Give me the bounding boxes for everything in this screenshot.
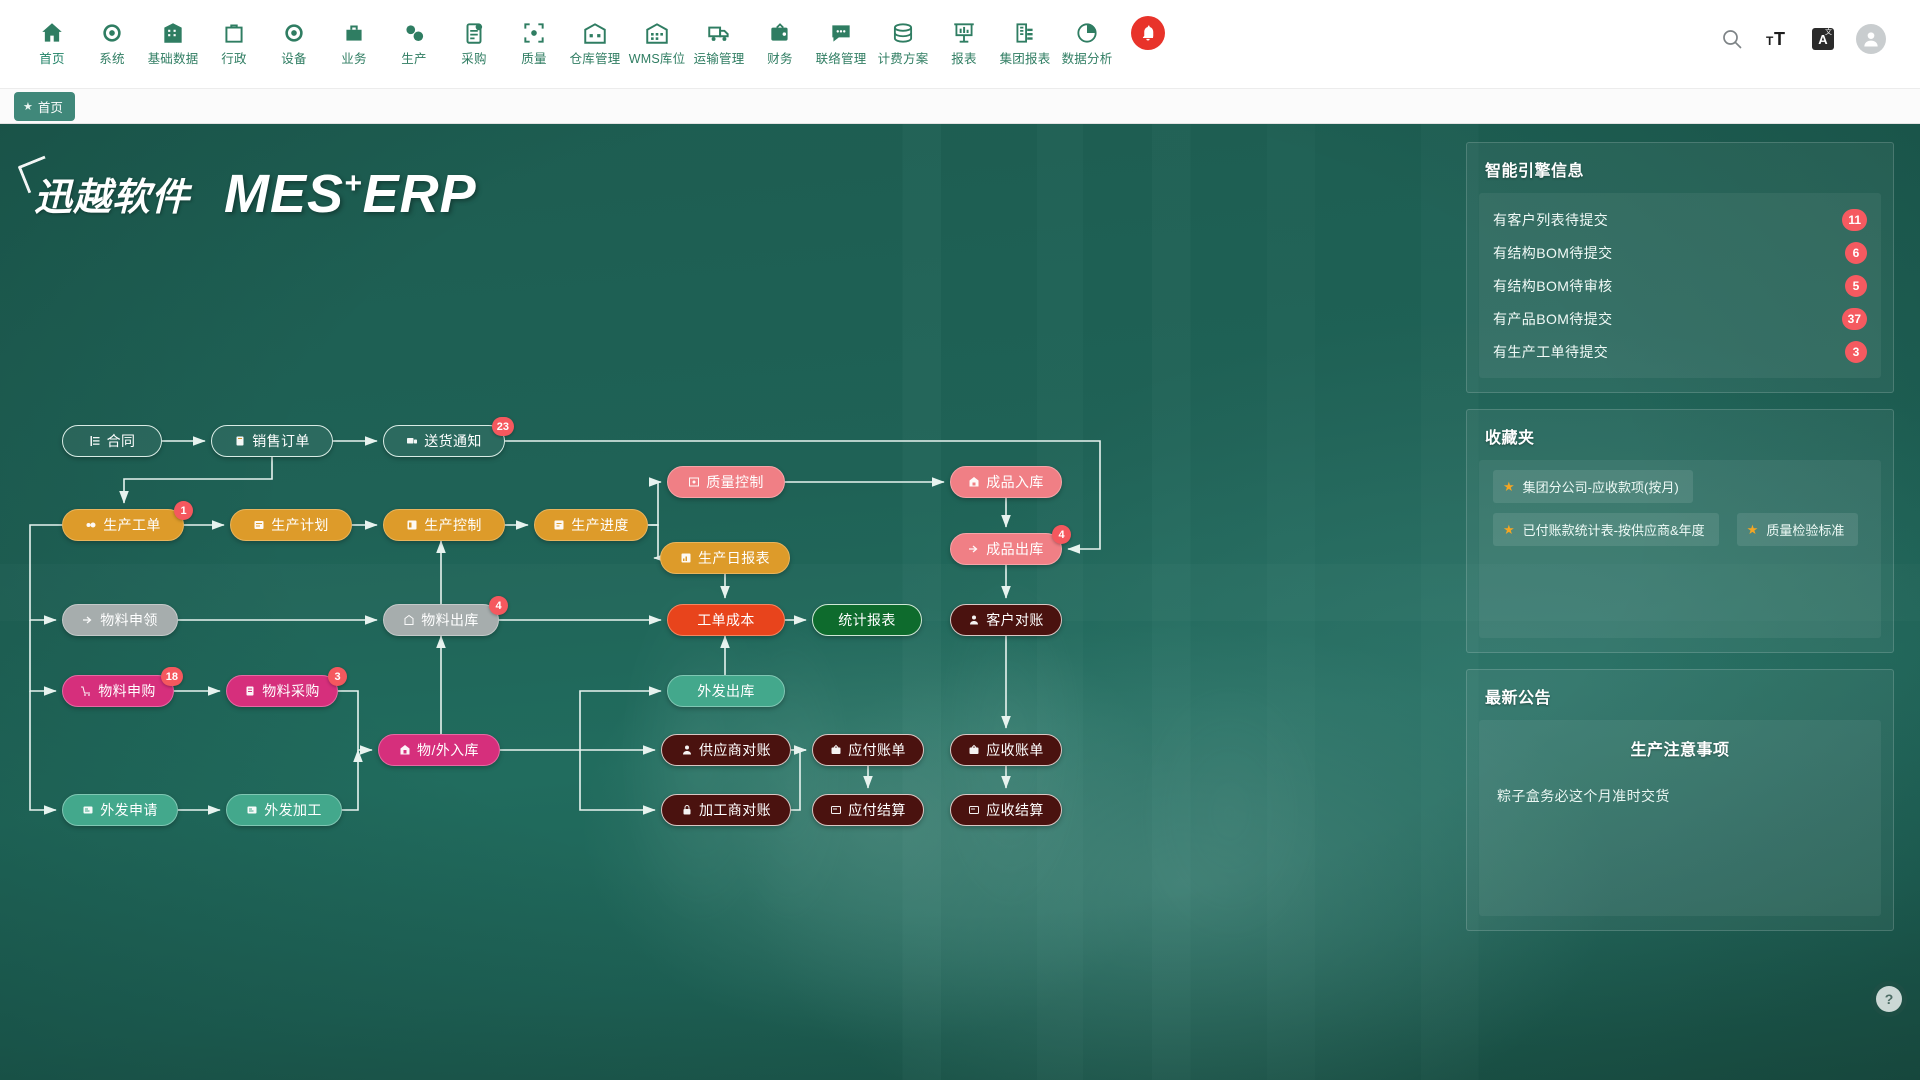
engine-row-1[interactable]: 有结构BOM待提交6 <box>1493 236 1867 269</box>
lock-icon <box>681 804 693 816</box>
presentation-chart-icon <box>951 20 977 46</box>
open-tabs-bar: ★ 首页 <box>0 88 1920 124</box>
bell-icon <box>1139 24 1157 42</box>
tab-home-label: 首页 <box>38 97 63 116</box>
flow-node-badge: 4 <box>489 596 508 615</box>
nav-item-17[interactable]: 数据分析 <box>1056 14 1118 66</box>
favorite-item-label: 已付账款统计表-按供应商&年度 <box>1523 520 1705 539</box>
flow-node-badge: 4 <box>1052 525 1071 544</box>
user-avatar-icon <box>1861 29 1881 49</box>
inbound-icon <box>968 476 980 488</box>
nav-item-16[interactable]: 集团报表 <box>994 14 1056 66</box>
flow-node-label: 外发加工 <box>264 803 322 817</box>
favorites-title: 收藏夹 <box>1485 424 1881 448</box>
workorder-icon <box>85 519 97 531</box>
nav-item-label: 集团报表 <box>1000 53 1051 66</box>
flow-node-production-progress[interactable]: 生产进度 <box>534 509 648 541</box>
flow-node-production-work-order[interactable]: 生产工单1 <box>62 509 184 541</box>
flow-node-label: 统计报表 <box>838 613 896 627</box>
flow-node-customer-reconciliation[interactable]: 客户对账 <box>950 604 1062 636</box>
outbound-icon <box>968 543 980 555</box>
nav-item-label: 系统 <box>99 53 124 66</box>
nav-item-1[interactable]: 系统 <box>82 14 142 66</box>
announcements-title: 最新公告 <box>1485 684 1881 708</box>
flow-node-material-purchase-request[interactable]: 物料申购18 <box>62 675 174 707</box>
flow-node-contract[interactable]: 合同 <box>62 425 162 457</box>
flow-node-label: 物料采购 <box>262 684 320 698</box>
smart-engine-title: 智能引擎信息 <box>1485 157 1881 181</box>
flow-node-label: 成品出库 <box>986 542 1044 556</box>
favorites-panel: 收藏夹 ★集团分公司-应收款项(按月)★已付账款统计表-按供应商&年度★质量检验… <box>1466 409 1894 653</box>
flow-node-label: 销售订单 <box>252 434 310 448</box>
wallet-icon <box>830 744 842 756</box>
dashboard-canvas: 迅越软件 MES+ERP <box>0 124 1920 1080</box>
favorite-item-label: 集团分公司-应收款项(按月) <box>1523 477 1679 496</box>
flow-node-label: 外发出库 <box>697 684 755 698</box>
flow-node-label: 生产计划 <box>271 518 329 532</box>
plan-icon <box>253 519 265 531</box>
announcements-panel: 最新公告 生产注意事项 粽子盒务必这个月准时交货 <box>1466 669 1894 931</box>
translate-icon[interactable]: A 文 <box>1812 28 1834 50</box>
flow-node-payable-bill[interactable]: 应付账单 <box>812 734 924 766</box>
nav-item-9[interactable]: 仓库管理 <box>564 14 626 66</box>
quality-icon <box>688 476 700 488</box>
star-icon: ★ <box>1503 522 1515 538</box>
flow-node-outsourcing-request[interactable]: 外发申请 <box>62 794 178 826</box>
nav-item-label: 数据分析 <box>1062 53 1113 66</box>
flow-node-badge: 3 <box>328 667 347 686</box>
flow-node-label: 物料申领 <box>100 613 158 627</box>
flow-node-quality-control[interactable]: 质量控制 <box>667 466 785 498</box>
flow-node-statistics-report[interactable]: 统计报表 <box>812 604 922 636</box>
flow-node-production-control[interactable]: 生产控制 <box>383 509 505 541</box>
wallet-icon <box>968 744 980 756</box>
svg-text:T: T <box>1774 29 1785 49</box>
nav-item-label: 质量 <box>521 53 546 66</box>
engine-row-label: 有结构BOM待提交 <box>1493 243 1613 263</box>
material-out-icon <box>403 614 415 626</box>
flow-node-work-order-cost[interactable]: 工单成本 <box>667 604 785 636</box>
nav-item-0[interactable]: 首页 <box>22 14 82 66</box>
nav-item-8[interactable]: 质量 <box>504 14 564 66</box>
nav-item-label: 报表 <box>951 53 976 66</box>
flow-node-label: 应付结算 <box>848 803 906 817</box>
star-icon: ★ <box>23 100 33 113</box>
tab-home[interactable]: ★ 首页 <box>14 92 75 121</box>
nav-item-6[interactable]: 生产 <box>384 14 444 66</box>
flow-node-label: 送货通知 <box>424 434 482 448</box>
smart-engine-list: 有客户列表待提交11有结构BOM待提交6有结构BOM待审核5有产品BOM待提交3… <box>1479 193 1881 378</box>
flow-node-label: 生产进度 <box>571 518 629 532</box>
flow-node-label: 工单成本 <box>697 613 755 627</box>
engine-row-2[interactable]: 有结构BOM待审核5 <box>1493 269 1867 302</box>
scan-icon <box>521 20 547 46</box>
requisition-icon <box>82 614 94 626</box>
flow-node-label: 生产工单 <box>103 518 161 532</box>
flow-node-payable-settlement[interactable]: 应付结算 <box>812 794 924 826</box>
flow-node-material-procurement[interactable]: 物料采购3 <box>226 675 338 707</box>
flow-node-label: 外发申请 <box>100 803 158 817</box>
briefcase-outline-icon <box>221 20 247 46</box>
process-flow-diagram: 合同销售订单送货通知23生产工单1生产计划生产控制生产进度质量控制成品入库生产日… <box>0 124 1160 824</box>
control-icon <box>406 519 418 531</box>
announcement-content: 生产注意事项 粽子盒务必这个月准时交货 <box>1479 720 1881 916</box>
engine-row-0[interactable]: 有客户列表待提交11 <box>1493 203 1867 236</box>
flow-node-receivable-settlement[interactable]: 应收结算 <box>950 794 1062 826</box>
flow-node-label: 供应商对账 <box>699 743 771 757</box>
notification-bell[interactable] <box>1131 16 1165 50</box>
delivery-icon <box>406 435 418 447</box>
nav-item-7[interactable]: 采购 <box>444 14 504 66</box>
nav-right-actions: TT A 文 <box>1720 14 1898 54</box>
clipboard-icon <box>461 20 487 46</box>
favorites-row-1: ★已付账款统计表-按供应商&年度★质量检验标准 <box>1493 513 1867 546</box>
engine-row-3[interactable]: 有产品BOM待提交37 <box>1493 302 1867 335</box>
star-icon: ★ <box>1503 479 1515 495</box>
nav-item-label: 首页 <box>39 53 64 66</box>
person-icon <box>968 614 980 626</box>
person-icon <box>681 744 693 756</box>
nav-item-5[interactable]: 业务 <box>324 14 384 66</box>
outsource-icon <box>246 804 258 816</box>
engine-row-label: 有产品BOM待提交 <box>1493 309 1613 329</box>
svg-text:T: T <box>1766 34 1774 48</box>
settle-icon <box>968 804 980 816</box>
briefcase-filled-icon <box>341 20 367 46</box>
flow-node-label: 物料出库 <box>421 613 479 627</box>
nav-item-label: 设备 <box>281 53 306 66</box>
building-icon <box>160 20 186 46</box>
help-button[interactable]: ? <box>1876 986 1902 1012</box>
flow-node-label: 加工商对账 <box>699 803 771 817</box>
flow-node-label: 生产控制 <box>424 518 482 532</box>
nav-item-label: 行政 <box>221 53 246 66</box>
inbox-icon <box>399 744 411 756</box>
nav-item-3[interactable]: 行政 <box>204 14 264 66</box>
right-sidebar: 智能引擎信息 有客户列表待提交11有结构BOM待提交6有结构BOM待审核5有产品… <box>1466 142 1894 931</box>
nav-item-13[interactable]: 联络管理 <box>810 14 872 66</box>
flow-node-outsourced-outbound[interactable]: 外发出库 <box>667 675 785 707</box>
engine-row-count: 5 <box>1845 275 1867 297</box>
nav-items: 首页系统基础数据行政设备业务生产采购质量仓库管理WMS库位运输管理财务联络管理计… <box>22 14 1118 66</box>
announcement-body: 粽子盒务必这个月准时交货 <box>1493 786 1867 806</box>
search-icon[interactable] <box>1720 27 1744 51</box>
flow-node-material-outbound[interactable]: 物料出库4 <box>383 604 499 636</box>
nav-item-4[interactable]: 设备 <box>264 14 324 66</box>
engine-row-label: 有生产工单待提交 <box>1493 342 1608 362</box>
report-icon <box>680 552 692 564</box>
order-icon <box>234 435 246 447</box>
nav-item-label: 财务 <box>767 53 792 66</box>
nav-item-label: 仓库管理 <box>570 53 621 66</box>
nav-item-label: 采购 <box>461 53 486 66</box>
pie-chart-icon <box>1074 20 1100 46</box>
nav-item-label: 运输管理 <box>694 53 745 66</box>
announcement-headline: 生产注意事项 <box>1493 736 1867 760</box>
procurement-icon <box>244 685 256 697</box>
engine-row-label: 有结构BOM待审核 <box>1493 276 1613 296</box>
gear-outline-icon <box>99 20 125 46</box>
favorite-item-1-1[interactable]: ★质量检验标准 <box>1737 513 1859 546</box>
top-navigation-bar: 首页系统基础数据行政设备业务生产采购质量仓库管理WMS库位运输管理财务联络管理计… <box>0 0 1920 88</box>
flow-node-receivable-bill[interactable]: 应收账单 <box>950 734 1062 766</box>
nav-item-14[interactable]: 计费方案 <box>872 14 934 66</box>
flow-node-sales-order[interactable]: 销售订单 <box>211 425 333 457</box>
engine-row-count: 11 <box>1842 209 1867 231</box>
warehouse-icon <box>582 20 608 46</box>
cart-icon <box>80 685 92 697</box>
flow-node-label: 应收结算 <box>986 803 1044 817</box>
nav-item-label: 计费方案 <box>878 53 929 66</box>
outsource-icon <box>82 804 94 816</box>
gear-outline-icon <box>281 20 307 46</box>
nav-item-12[interactable]: 财务 <box>750 14 810 66</box>
flow-node-label: 客户对账 <box>986 613 1044 627</box>
nav-item-2[interactable]: 基础数据 <box>142 14 204 66</box>
favorite-item-0-0[interactable]: ★集团分公司-应收款项(按月) <box>1493 470 1693 503</box>
flow-node-delivery-notice[interactable]: 送货通知23 <box>383 425 505 457</box>
database-icon <box>890 20 916 46</box>
nav-item-10[interactable]: WMS库位 <box>626 14 688 66</box>
settle-icon <box>830 804 842 816</box>
flow-node-badge: 18 <box>161 667 183 686</box>
flow-node-supplier-reconciliation[interactable]: 供应商对账 <box>661 734 791 766</box>
chat-icon <box>828 20 854 46</box>
warehouse-grid-icon <box>644 20 670 46</box>
flow-node-material-requisition[interactable]: 物料申领 <box>62 604 178 636</box>
nav-item-label: 业务 <box>341 53 366 66</box>
engine-row-count: 6 <box>1845 242 1867 264</box>
nav-item-label: 联络管理 <box>816 53 867 66</box>
favorite-item-1-0[interactable]: ★已付账款统计表-按供应商&年度 <box>1493 513 1719 546</box>
nav-item-label: WMS库位 <box>629 53 686 66</box>
nav-item-label: 基础数据 <box>148 53 199 66</box>
home-icon <box>39 20 65 46</box>
flow-node-production-daily-report[interactable]: 生产日报表 <box>660 542 790 574</box>
favorites-row-0: ★集团分公司-应收款项(按月) <box>1493 470 1867 503</box>
user-avatar[interactable] <box>1856 24 1886 54</box>
favorites-list: ★集团分公司-应收款项(按月)★已付账款统计表-按供应商&年度★质量检验标准 <box>1479 460 1881 638</box>
flow-node-outsourced-inbound[interactable]: 物/外入库 <box>378 734 500 766</box>
flow-node-outsourcing-process[interactable]: 外发加工 <box>226 794 342 826</box>
nav-item-11[interactable]: 运输管理 <box>688 14 750 66</box>
engine-row-4[interactable]: 有生产工单待提交3 <box>1493 335 1867 368</box>
flow-node-label: 应收账单 <box>986 743 1044 757</box>
gears-icon <box>401 20 427 46</box>
flow-node-processor-reconciliation[interactable]: 加工商对账 <box>661 794 791 826</box>
engine-row-count: 37 <box>1842 308 1867 330</box>
notification-bell-wrap <box>1118 14 1178 50</box>
flow-node-badge: 23 <box>492 417 514 436</box>
document-icon <box>89 435 101 447</box>
nav-item-15[interactable]: 报表 <box>934 14 994 66</box>
engine-row-count: 3 <box>1845 341 1867 363</box>
progress-icon <box>553 519 565 531</box>
smart-engine-panel: 智能引擎信息 有客户列表待提交11有结构BOM待提交6有结构BOM待审核5有产品… <box>1466 142 1894 393</box>
nav-item-label: 生产 <box>401 53 426 66</box>
flow-node-production-plan[interactable]: 生产计划 <box>230 509 352 541</box>
building-chart-icon <box>1012 20 1038 46</box>
flow-node-finished-goods-in[interactable]: 成品入库 <box>950 466 1062 498</box>
flow-node-label: 生产日报表 <box>698 551 770 565</box>
flow-node-label: 质量控制 <box>706 475 764 489</box>
favorite-item-label: 质量检验标准 <box>1766 520 1844 539</box>
truck-icon <box>706 20 732 46</box>
wallet-icon <box>767 20 793 46</box>
flow-node-badge: 1 <box>174 501 193 520</box>
flow-node-finished-goods-out[interactable]: 成品出库4 <box>950 533 1062 565</box>
flow-node-label: 应付账单 <box>848 743 906 757</box>
translate-sup: 文 <box>1825 29 1832 36</box>
font-size-icon[interactable]: TT <box>1766 28 1790 50</box>
flow-node-label: 成品入库 <box>986 475 1044 489</box>
star-icon: ★ <box>1747 522 1759 538</box>
flow-node-label: 物/外入库 <box>417 743 479 757</box>
flow-node-label: 合同 <box>107 434 136 448</box>
flow-node-label: 物料申购 <box>98 684 156 698</box>
engine-row-label: 有客户列表待提交 <box>1493 210 1608 230</box>
